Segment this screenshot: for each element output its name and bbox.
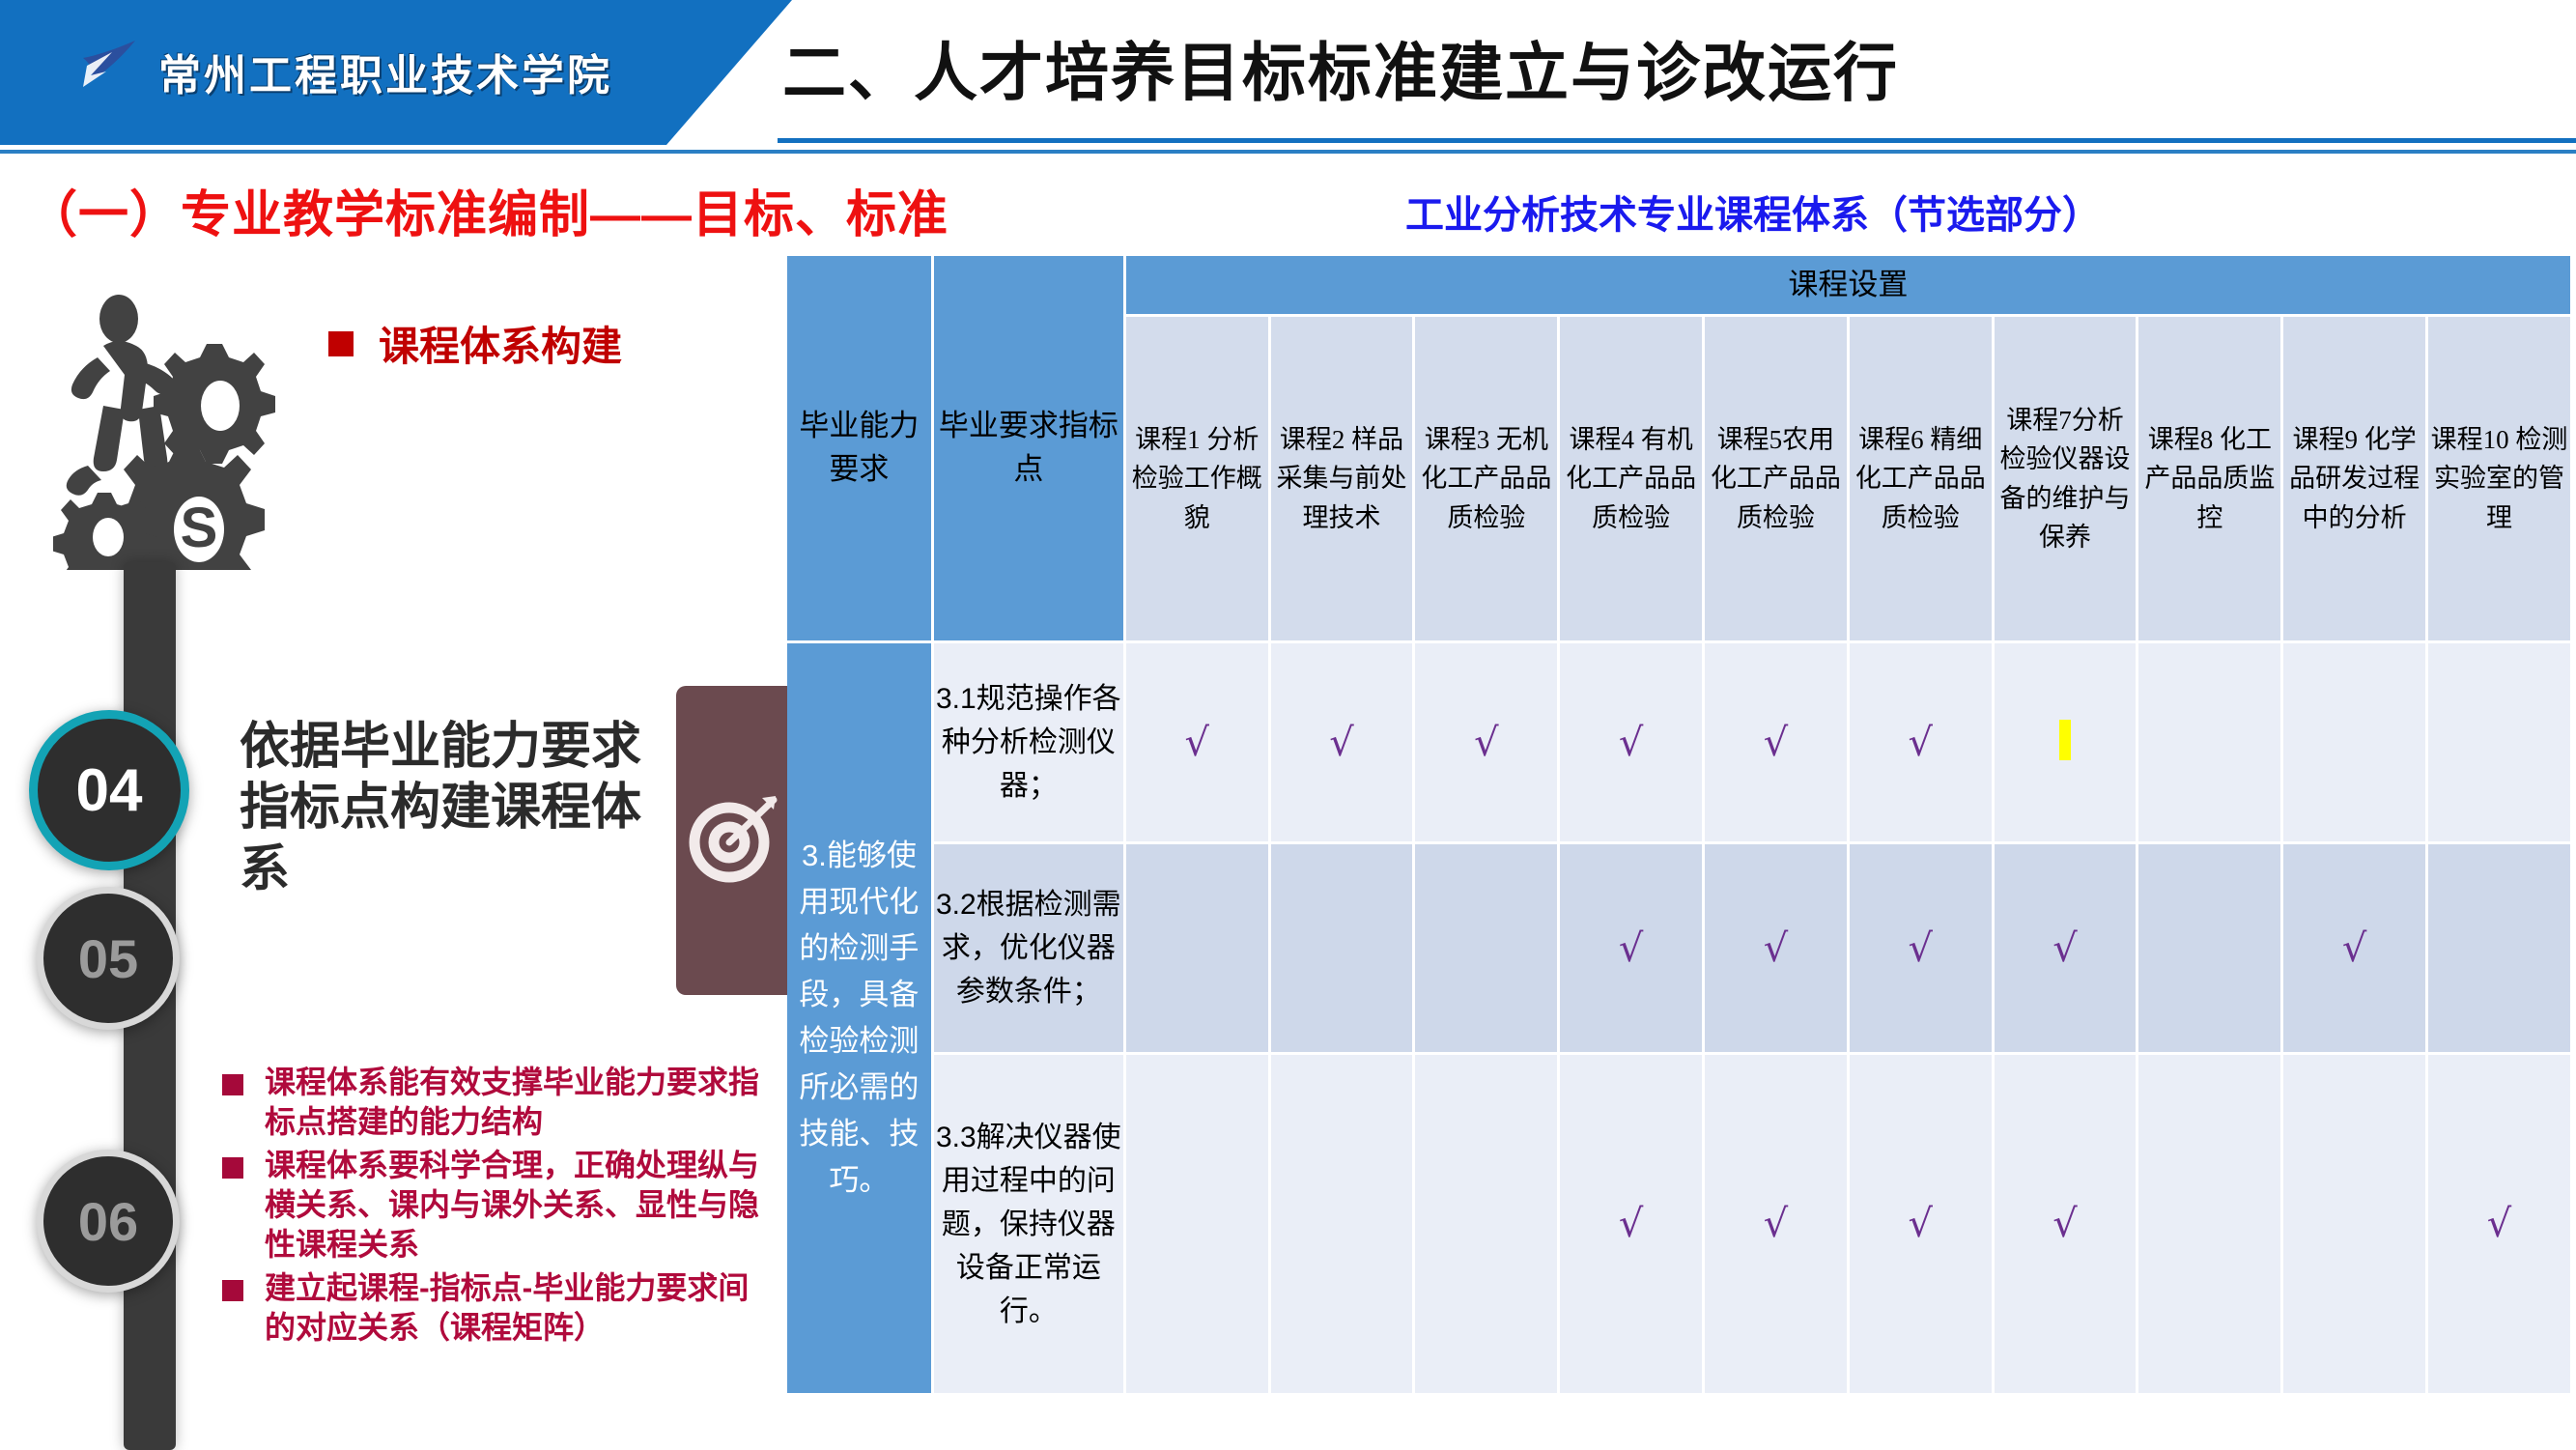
cell-indicator-3-1: 3.1规范操作各种分析检测仪器；: [934, 643, 1123, 841]
course-system-heading: 课程体系构建: [328, 314, 622, 373]
header-rule: [778, 138, 2576, 143]
cell-mark-r1c3: √: [1415, 643, 1557, 841]
cell-mark-r3c10: √: [2428, 1055, 2570, 1393]
table-caption-blue: 工业分析技术专业课程体系（节选部分）: [1405, 184, 2101, 240]
cell-mark-r3c7: √: [1995, 1055, 2137, 1393]
timeline-node-04[interactable]: 04: [29, 710, 189, 870]
university-name: 常州工程职业技术学院: [158, 41, 612, 102]
th-course-5: 课程5农用化工产品品质检验: [1705, 317, 1847, 640]
cell-mark-r2c2: [1271, 844, 1413, 1052]
cell-mark-r3c1: [1126, 1055, 1268, 1393]
table-row: 3.3解决仪器使用过程中的问题，保持仪器设备正常运行。 √ √ √ √ √: [787, 1055, 2570, 1393]
cell-mark-r3c4: √: [1560, 1055, 1702, 1393]
timeline-node-04-label: 04: [76, 756, 143, 825]
target-card: [676, 686, 790, 995]
table-header-row-group: 毕业能力要求 毕业要求指标点 课程设置: [787, 256, 2570, 314]
timeline-node-05-label: 05: [78, 927, 138, 990]
header-rule-secondary: [0, 150, 2576, 154]
th-course-7: 课程7分析检验仪器设备的维护与保养: [1995, 317, 2137, 640]
cell-indicator-3-3: 3.3解决仪器使用过程中的问题，保持仪器设备正常运行。: [934, 1055, 1123, 1393]
th-indicator: 毕业要求指标点: [934, 256, 1123, 640]
cell-mark-r3c3: [1415, 1055, 1557, 1393]
cell-mark-r1c9: [2283, 643, 2425, 841]
cell-mark-r3c2: [1271, 1055, 1413, 1393]
cell-mark-r2c9: √: [2283, 844, 2425, 1052]
th-course-group: 课程设置: [1126, 256, 2570, 314]
section-subtitle-red: （一）专业教学标准编制——目标、标准: [27, 174, 948, 246]
timeline-node-05[interactable]: 05: [37, 887, 180, 1030]
cell-mark-r1c1: √: [1126, 643, 1268, 841]
cell-capability: 3.能够使用现代化的检测手段，具备检验检测所必需的技能、技巧。: [787, 643, 931, 1393]
highlight-bar: [2059, 720, 2071, 760]
page-header: 常州工程职业技术学院 二、人才培养目标标准建立与诊改运行: [0, 0, 2576, 145]
crescent-swoosh-logo-icon: [58, 37, 137, 106]
th-course-3: 课程3 无机化工产品品质检验: [1415, 317, 1557, 640]
th-course-8: 课程8 化工产品品质监控: [2138, 317, 2280, 640]
cell-mark-r1c5: √: [1705, 643, 1847, 841]
table-row: 3.能够使用现代化的检测手段，具备检验检测所必需的技能、技巧。 3.1规范操作各…: [787, 643, 2570, 841]
th-capability: 毕业能力要求: [787, 256, 931, 640]
svg-text:S: S: [181, 497, 218, 559]
university-logo: 常州工程职业技术学院: [58, 37, 612, 106]
cell-mark-r2c3: [1415, 844, 1557, 1052]
cell-mark-r1c7: [1995, 643, 2137, 841]
list-item: 课程体系要科学合理，正确处理纵与横关系、课内与课外关系、显性与隐性课程关系: [222, 1146, 763, 1265]
timeline-node-06-label: 06: [78, 1190, 138, 1253]
square-bullet-icon: [328, 331, 354, 356]
target-dart-icon: [687, 792, 779, 890]
th-course-9: 课程9 化学品研发过程中的分析: [2283, 317, 2425, 640]
th-course-10: 课程10 检测实验室的管理: [2428, 317, 2570, 640]
list-item-label: 课程体系要科学合理，正确处理纵与横关系、课内与课外关系、显性与隐性课程关系: [265, 1146, 763, 1265]
cell-mark-r1c8: [2138, 643, 2280, 841]
cell-mark-r2c10: [2428, 844, 2570, 1052]
course-matrix-table: 毕业能力要求 毕业要求指标点 课程设置 课程1 分析检验工作概貌 课程2 样品采…: [784, 253, 2573, 1396]
cell-mark-r1c10: [2428, 643, 2570, 841]
list-item: 建立起课程-指标点-毕业能力要求间的对应关系（课程矩阵）: [222, 1268, 763, 1348]
th-course-2: 课程2 样品采集与前处理技术: [1271, 317, 1413, 640]
list-item: 课程体系能有效支撑毕业能力要求指标点搭建的能力结构: [222, 1063, 763, 1142]
square-bullet-icon: [222, 1157, 243, 1179]
cell-mark-r1c6: √: [1850, 643, 1992, 841]
list-item-label: 课程体系能有效支撑毕业能力要求指标点搭建的能力结构: [265, 1063, 763, 1142]
key-points-list: 课程体系能有效支撑毕业能力要求指标点搭建的能力结构 课程体系要科学合理，正确处理…: [222, 1063, 763, 1351]
cell-mark-r3c5: √: [1705, 1055, 1847, 1393]
cell-mark-r2c1: [1126, 844, 1268, 1052]
th-course-4: 课程4 有机化工产品品质检验: [1560, 317, 1702, 640]
cell-mark-r3c6: √: [1850, 1055, 1992, 1393]
cell-mark-r3c9: [2283, 1055, 2425, 1393]
table-row: 3.2根据检测需求，优化仪器参数条件； √ √ √ √ √: [787, 844, 2570, 1052]
cell-mark-r2c7: √: [1995, 844, 2137, 1052]
cell-mark-r3c8: [2138, 1055, 2280, 1393]
course-system-heading-label: 课程体系构建: [379, 314, 622, 373]
th-course-6: 课程6 精细化工产品品质检验: [1850, 317, 1992, 640]
square-bullet-icon: [222, 1280, 243, 1301]
cell-mark-r1c2: √: [1271, 643, 1413, 841]
th-course-1: 课程1 分析检验工作概貌: [1126, 317, 1268, 640]
timeline-node-04-description: 依据毕业能力要求指标点构建课程体系: [240, 717, 655, 900]
list-item-label: 建立起课程-指标点-毕业能力要求间的对应关系（课程矩阵）: [265, 1268, 763, 1348]
cell-indicator-3-2: 3.2根据检测需求，优化仪器参数条件；: [934, 844, 1123, 1052]
cell-mark-r1c4: √: [1560, 643, 1702, 841]
cell-mark-r2c5: √: [1705, 844, 1847, 1052]
person-gears-icon: S: [53, 290, 275, 570]
square-bullet-icon: [222, 1074, 243, 1095]
page-title: 二、人才培养目标标准建立与诊改运行: [782, 21, 2473, 114]
cell-mark-r2c4: √: [1560, 844, 1702, 1052]
timeline-node-06[interactable]: 06: [37, 1150, 180, 1293]
cell-mark-r2c8: [2138, 844, 2280, 1052]
cell-mark-r2c6: √: [1850, 844, 1992, 1052]
